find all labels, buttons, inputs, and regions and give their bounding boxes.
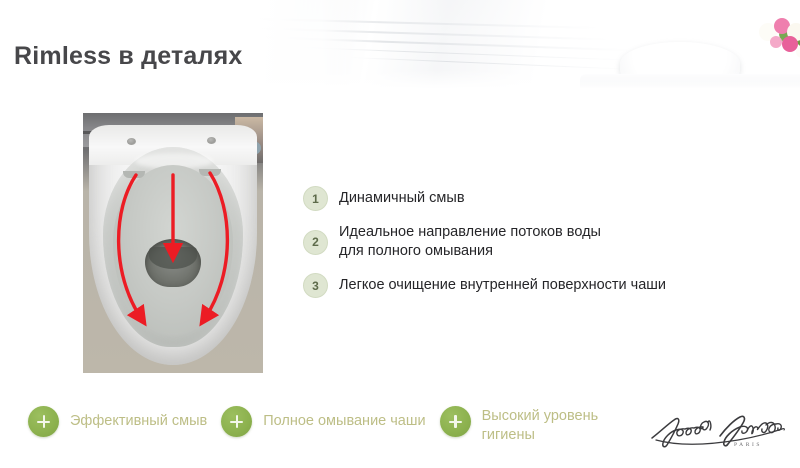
benefit-badge-bar: Эффективный смыв Полное омывание чаши Вы… bbox=[28, 406, 621, 445]
benefit-label: Полное омывание чаши bbox=[263, 412, 425, 431]
jacob-delafon-signature-icon bbox=[648, 412, 788, 450]
feature-label-line-1: Идеальное направление потоков воды bbox=[339, 223, 601, 242]
plus-icon bbox=[28, 406, 59, 437]
left-curved-flow-arrow bbox=[119, 175, 141, 318]
feature-item-2: 2 Идеальное направление потоков воды для… bbox=[303, 223, 723, 261]
benefit-label: Высокий уровень гигиены bbox=[482, 406, 607, 445]
logo-tagline: PARIS bbox=[734, 442, 762, 448]
banner-bathroom-photo bbox=[150, 0, 800, 92]
benefit-label: Эффективный смыв bbox=[70, 412, 207, 431]
feature-item-3: 3 Легкое очищение внутренней поверхности… bbox=[303, 273, 723, 298]
water-flow-arrows bbox=[83, 113, 263, 373]
plus-icon bbox=[221, 406, 252, 437]
benefit-badge-3: Высокий уровень гигиены bbox=[440, 406, 607, 445]
feature-number-badge: 3 bbox=[303, 273, 328, 298]
brand-logo: PARIS bbox=[648, 412, 788, 460]
feature-number-badge: 1 bbox=[303, 186, 328, 211]
page-title: Rimless в деталях bbox=[14, 42, 243, 71]
benefit-badge-2: Полное омывание чаши bbox=[221, 406, 425, 437]
feature-label: Легкое очищение внутренней поверхности ч… bbox=[339, 273, 666, 295]
feature-list: 1 Динамичный смыв 2 Идеальное направлени… bbox=[303, 186, 723, 310]
plus-icon bbox=[440, 406, 471, 437]
benefit-badge-1: Эффективный смыв bbox=[28, 406, 207, 437]
feature-item-1: 1 Динамичный смыв bbox=[303, 186, 723, 211]
banner-bottom-fade bbox=[150, 70, 800, 92]
feature-label: Идеальное направление потоков воды для п… bbox=[339, 223, 601, 261]
feature-label-line-2: для полного омывания bbox=[339, 242, 601, 261]
toilet-bowl-photo bbox=[83, 113, 263, 373]
feature-label: Динамичный смыв bbox=[339, 186, 465, 208]
right-curved-flow-arrow bbox=[205, 173, 227, 318]
feature-number-badge: 2 bbox=[303, 230, 328, 255]
